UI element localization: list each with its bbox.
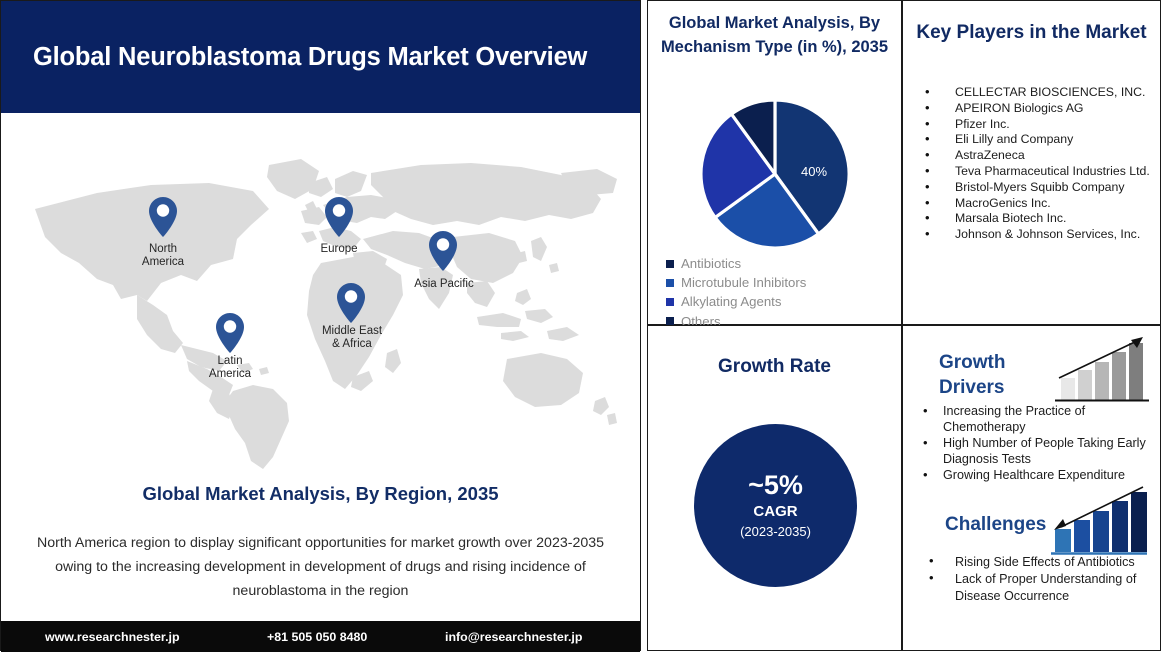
- list-item: High Number of People Taking Early Diagn…: [911, 436, 1159, 468]
- pie-data-label-antibiotics: 40%: [801, 164, 827, 179]
- ascending-bar-chart-down-arrow-icon: [1045, 484, 1149, 561]
- map-caption: Global Market Analysis, By Region, 2035: [1, 483, 640, 505]
- list-item: Increasing the Practice of Chemotherapy: [911, 404, 1159, 436]
- key-players-title: Key Players in the Market: [911, 19, 1152, 46]
- map-description: North America region to display signific…: [37, 531, 604, 603]
- growth-rate-panel: Growth Rate ~5% CAGR (2023-2035): [647, 325, 902, 651]
- legend-swatch-icon: [666, 279, 674, 287]
- map-label-europe: Europe: [301, 243, 377, 256]
- pie-chart: 40%: [695, 94, 855, 254]
- legend-label: Antibiotics: [681, 256, 741, 271]
- infographic-root: Global Neuroblastoma Drugs Market Overvi…: [0, 0, 1161, 651]
- cagr-unit: CAGR: [753, 502, 797, 521]
- list-item: Pfizer Inc.: [919, 117, 1151, 132]
- pie-legend: Antibiotics Microtubule Inhibitors Alkyl…: [666, 254, 891, 331]
- growth-rate-title: Growth Rate: [656, 356, 893, 378]
- map-label-middle-east-africa: Middle East & Africa: [309, 325, 395, 351]
- cagr-value: ~5%: [748, 470, 803, 500]
- region-overview-panel: Global Neuroblastoma Drugs Market Overvi…: [0, 0, 641, 651]
- list-item: Growing Healthcare Expenditure: [911, 468, 1159, 484]
- list-item: Lack of Proper Understanding of Disease …: [911, 571, 1161, 604]
- list-item: AstraZeneca: [919, 148, 1151, 163]
- key-players-panel: Key Players in the Market CELLECTAR BIOS…: [902, 0, 1161, 325]
- footer-website[interactable]: www.researchnester.jp: [45, 621, 180, 652]
- cagr-period: (2023-2035): [740, 522, 811, 541]
- map-pin-asia-pacific[interactable]: [429, 231, 457, 271]
- pie-chart-title: Global Market Analysis, By Mechanism Typ…: [656, 11, 893, 59]
- key-players-list: CELLECTAR BIOSCIENCES, INC. APEIRON Biol…: [919, 85, 1151, 243]
- list-item: MacroGenics Inc.: [919, 196, 1151, 211]
- map-pin-europe[interactable]: [325, 197, 353, 237]
- legend-item-microtubule-inhibitors[interactable]: Microtubule Inhibitors: [666, 273, 891, 292]
- list-item: Eli Lilly and Company: [919, 132, 1151, 147]
- map-label-latin-america: Latin America: [190, 355, 270, 381]
- legend-label: Alkylating Agents: [681, 294, 781, 309]
- legend-swatch-icon: [666, 260, 674, 268]
- list-item: Marsala Biotech Inc.: [919, 211, 1151, 226]
- drivers-challenges-panel: Growth Drivers Increasing the Practice o…: [902, 325, 1161, 651]
- world-map-container: North America Europe Asia Pacific Middle…: [1, 113, 640, 481]
- list-item: APEIRON Biologics AG: [919, 101, 1151, 116]
- map-pin-north-america[interactable]: [149, 197, 177, 237]
- growth-drivers-title: Growth Drivers: [939, 350, 1049, 400]
- map-pin-middle-east-africa[interactable]: [337, 283, 365, 323]
- legend-swatch-icon: [666, 317, 674, 325]
- page-title: Global Neuroblastoma Drugs Market Overvi…: [1, 1, 640, 113]
- list-item: Bristol-Myers Squibb Company: [919, 180, 1151, 195]
- legend-item-antibiotics[interactable]: Antibiotics: [666, 254, 891, 273]
- mechanism-type-panel: Global Market Analysis, By Mechanism Typ…: [647, 0, 902, 325]
- legend-swatch-icon: [666, 298, 674, 306]
- map-label-asia-pacific: Asia Pacific: [403, 278, 485, 291]
- challenges-title: Challenges: [945, 514, 1046, 536]
- growth-drivers-list: Increasing the Practice of Chemotherapy …: [911, 404, 1159, 484]
- list-item: Johnson & Johnson Services, Inc.: [919, 227, 1151, 242]
- challenges-list: Rising Side Effects of Antibiotics Lack …: [911, 554, 1161, 605]
- ascending-bar-chart-up-arrow-icon: [1053, 334, 1151, 409]
- footer-phone[interactable]: +81 505 050 8480: [267, 621, 367, 652]
- cagr-badge: ~5% CAGR (2023-2035): [694, 424, 857, 587]
- list-item: Rising Side Effects of Antibiotics: [911, 554, 1161, 570]
- list-item: Teva Pharmaceutical Industries Ltd.: [919, 164, 1151, 179]
- map-label-north-america: North America: [123, 243, 203, 269]
- footer-email[interactable]: info@researchnester.jp: [445, 621, 582, 652]
- map-pin-latin-america[interactable]: [216, 313, 244, 353]
- legend-label: Microtubule Inhibitors: [681, 275, 806, 290]
- list-item: CELLECTAR BIOSCIENCES, INC.: [919, 85, 1151, 100]
- footer-bar: www.researchnester.jp +81 505 050 8480 i…: [1, 621, 640, 652]
- legend-item-alkylating-agents[interactable]: Alkylating Agents: [666, 292, 891, 311]
- world-map-graphic: [1, 113, 640, 481]
